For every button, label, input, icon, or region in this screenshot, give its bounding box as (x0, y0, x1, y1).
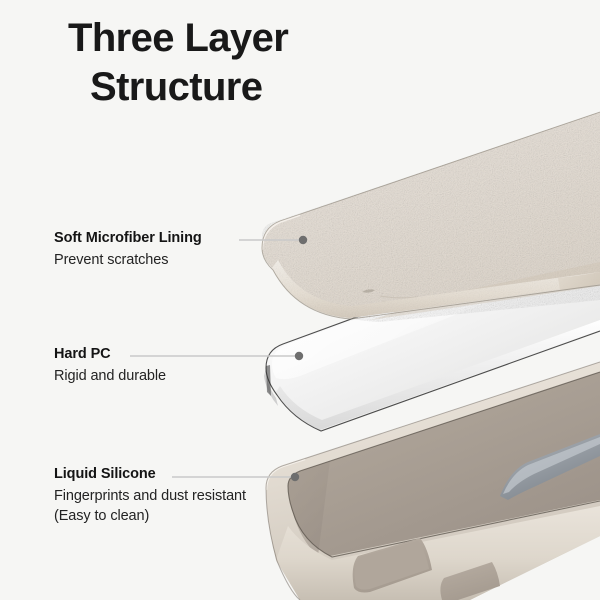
microfiber-layer (250, 105, 600, 330)
annotation-liquid-silicone: Liquid Silicone Fingerprints and dust re… (54, 465, 246, 526)
annotation-heading: Soft Microfiber Lining (54, 229, 202, 247)
leader-dot-liquid-silicone (291, 473, 299, 481)
annotation-heading: Liquid Silicone (54, 465, 246, 483)
annotation-description: Rigid and durable (54, 366, 166, 386)
annotation-description: Fingerprints and dust resistant (54, 486, 246, 506)
annotation-description: Prevent scratches (54, 250, 202, 270)
three-layer-structure-infographic: Three Layer Structure (0, 0, 600, 600)
annotation-soft-microfiber-lining: Soft Microfiber Lining Prevent scratches (54, 229, 202, 270)
annotation-hard-pc: Hard PC Rigid and durable (54, 345, 166, 386)
annotation-description-secondary: (Easy to clean) (54, 506, 246, 526)
leader-dot-soft-microfiber-lining (299, 236, 307, 244)
annotation-heading: Hard PC (54, 345, 166, 363)
leader-dot-hard-pc (295, 352, 303, 360)
